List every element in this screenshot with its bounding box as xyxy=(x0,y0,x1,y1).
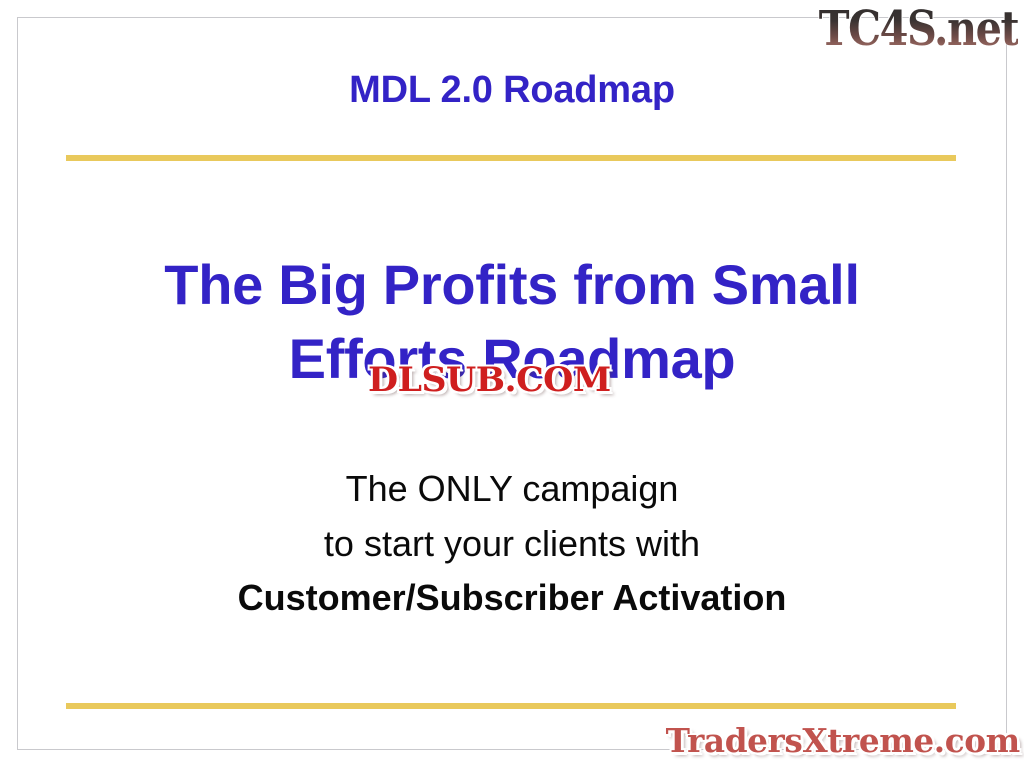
main-heading: The Big Profits from Small Efforts Roadm… xyxy=(0,248,1024,396)
subtitle-block: The ONLY campaign to start your clients … xyxy=(0,462,1024,626)
divider-top xyxy=(66,155,956,161)
divider-bottom xyxy=(66,703,956,709)
subtitle-line-3: Customer/Subscriber Activation xyxy=(0,571,1024,626)
slide-root: MDL 2.0 Roadmap The Big Profits from Sma… xyxy=(0,0,1024,768)
subtitle-line-2: to start your clients with xyxy=(0,517,1024,572)
subtitle-line-1: The ONLY campaign xyxy=(0,462,1024,517)
main-heading-line-1: The Big Profits from Small xyxy=(0,248,1024,322)
main-heading-line-2: Efforts Roadmap xyxy=(0,322,1024,396)
page-title: MDL 2.0 Roadmap xyxy=(0,70,1024,112)
